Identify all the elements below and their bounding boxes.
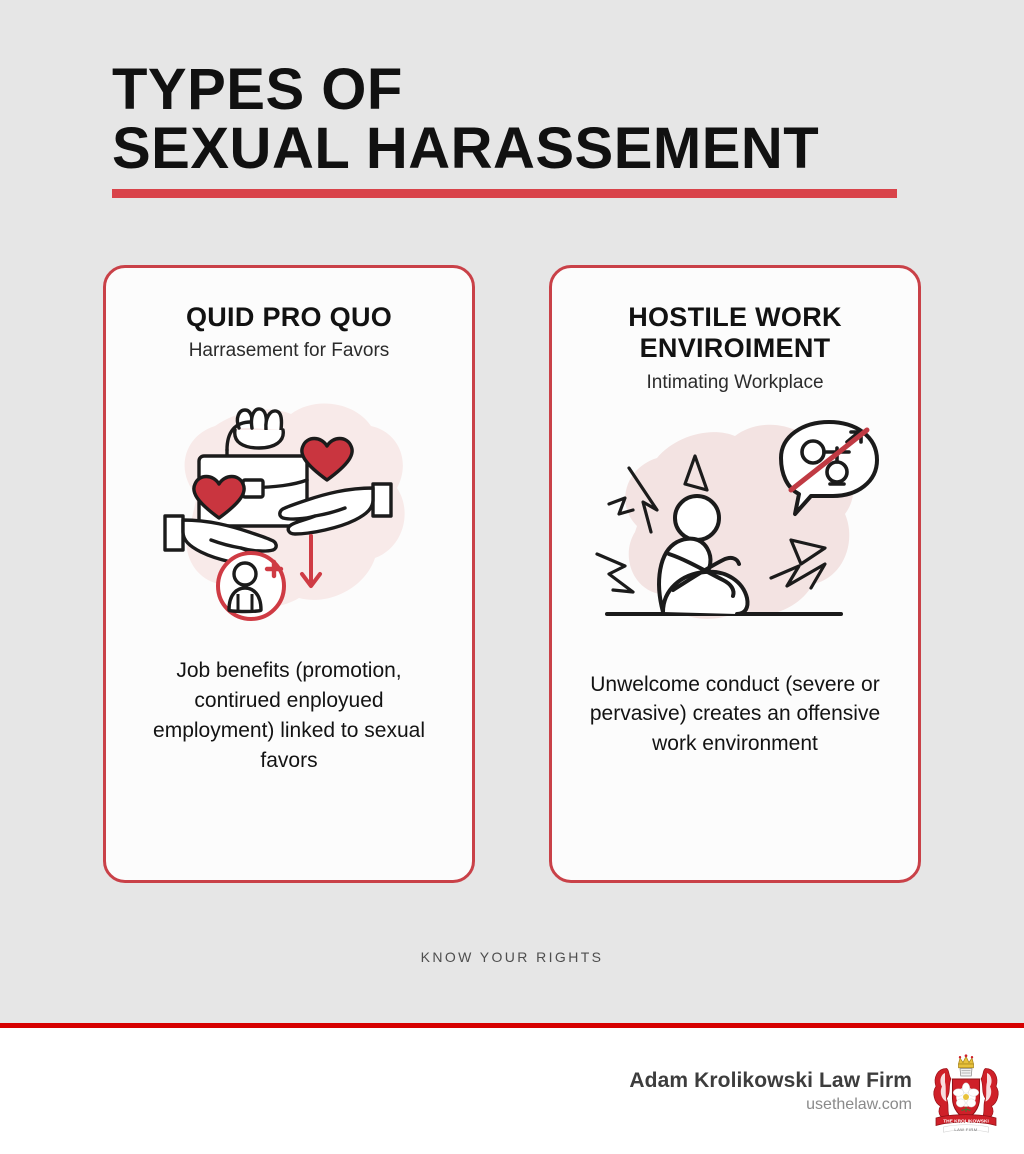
briefcase-hands-hearts-illustration: [139, 388, 439, 628]
card-title: HOSTILE WORK ENVIROIMENT: [570, 302, 900, 365]
content-area: TYPES OF SEXUAL HARASSEMENT QUID PRO QUO…: [0, 0, 1024, 1023]
crest-banner: THE KROLIKOWSKI LAW FIRM: [936, 1115, 996, 1133]
infographic-poster: TYPES OF SEXUAL HARASSEMENT QUID PRO QUO…: [0, 0, 1024, 1154]
footer: Adam Krolikowski Law Firm usethelaw.com: [0, 1028, 1024, 1154]
page-title: TYPES OF SEXUAL HARASSEMENT: [112, 60, 912, 198]
card-title: QUID PRO QUO: [186, 302, 392, 333]
firm-name: Adam Krolikowski Law Firm: [629, 1069, 912, 1093]
card-hostile-work-environment[interactable]: HOSTILE WORK ENVIROIMENT Intimating Work…: [549, 265, 921, 883]
title-line-1: TYPES OF: [112, 60, 912, 119]
tagline: KNOW YOUR RIGHTS: [0, 949, 1024, 965]
card-subtitle: Harrasement for Favors: [189, 340, 390, 362]
crest-shield: [953, 1079, 980, 1120]
cards-row: QUID PRO QUO Harrasement for Favors: [0, 265, 1024, 883]
law-firm-crest-logo: THE KROLIKOWSKI LAW FIRM: [930, 1049, 1002, 1133]
crest-banner-line-2: LAW FIRM: [954, 1127, 977, 1132]
crest-banner-line-1: THE KROLIKOWSKI: [943, 1119, 989, 1125]
crest-helm: [960, 1069, 972, 1077]
card-body-text: Job benefits (promotion, contirued enplo…: [139, 656, 439, 775]
card-subtitle: Intimating Workplace: [646, 372, 823, 394]
card-body-text: Unwelcome conduct (severe or pervasive) …: [585, 670, 885, 759]
firm-website: usethelaw.com: [629, 1096, 912, 1114]
title-underline-rule: [112, 189, 897, 198]
person-plus-circle-icon: [218, 553, 284, 619]
crown-icon: [959, 1054, 974, 1067]
distressed-person-speech-bubble-illustration: [585, 402, 885, 642]
card-quid-pro-quo[interactable]: QUID PRO QUO Harrasement for Favors: [103, 265, 475, 883]
title-line-2: SEXUAL HARASSEMENT: [112, 119, 912, 178]
footer-text-group: Adam Krolikowski Law Firm usethelaw.com: [629, 1069, 912, 1114]
